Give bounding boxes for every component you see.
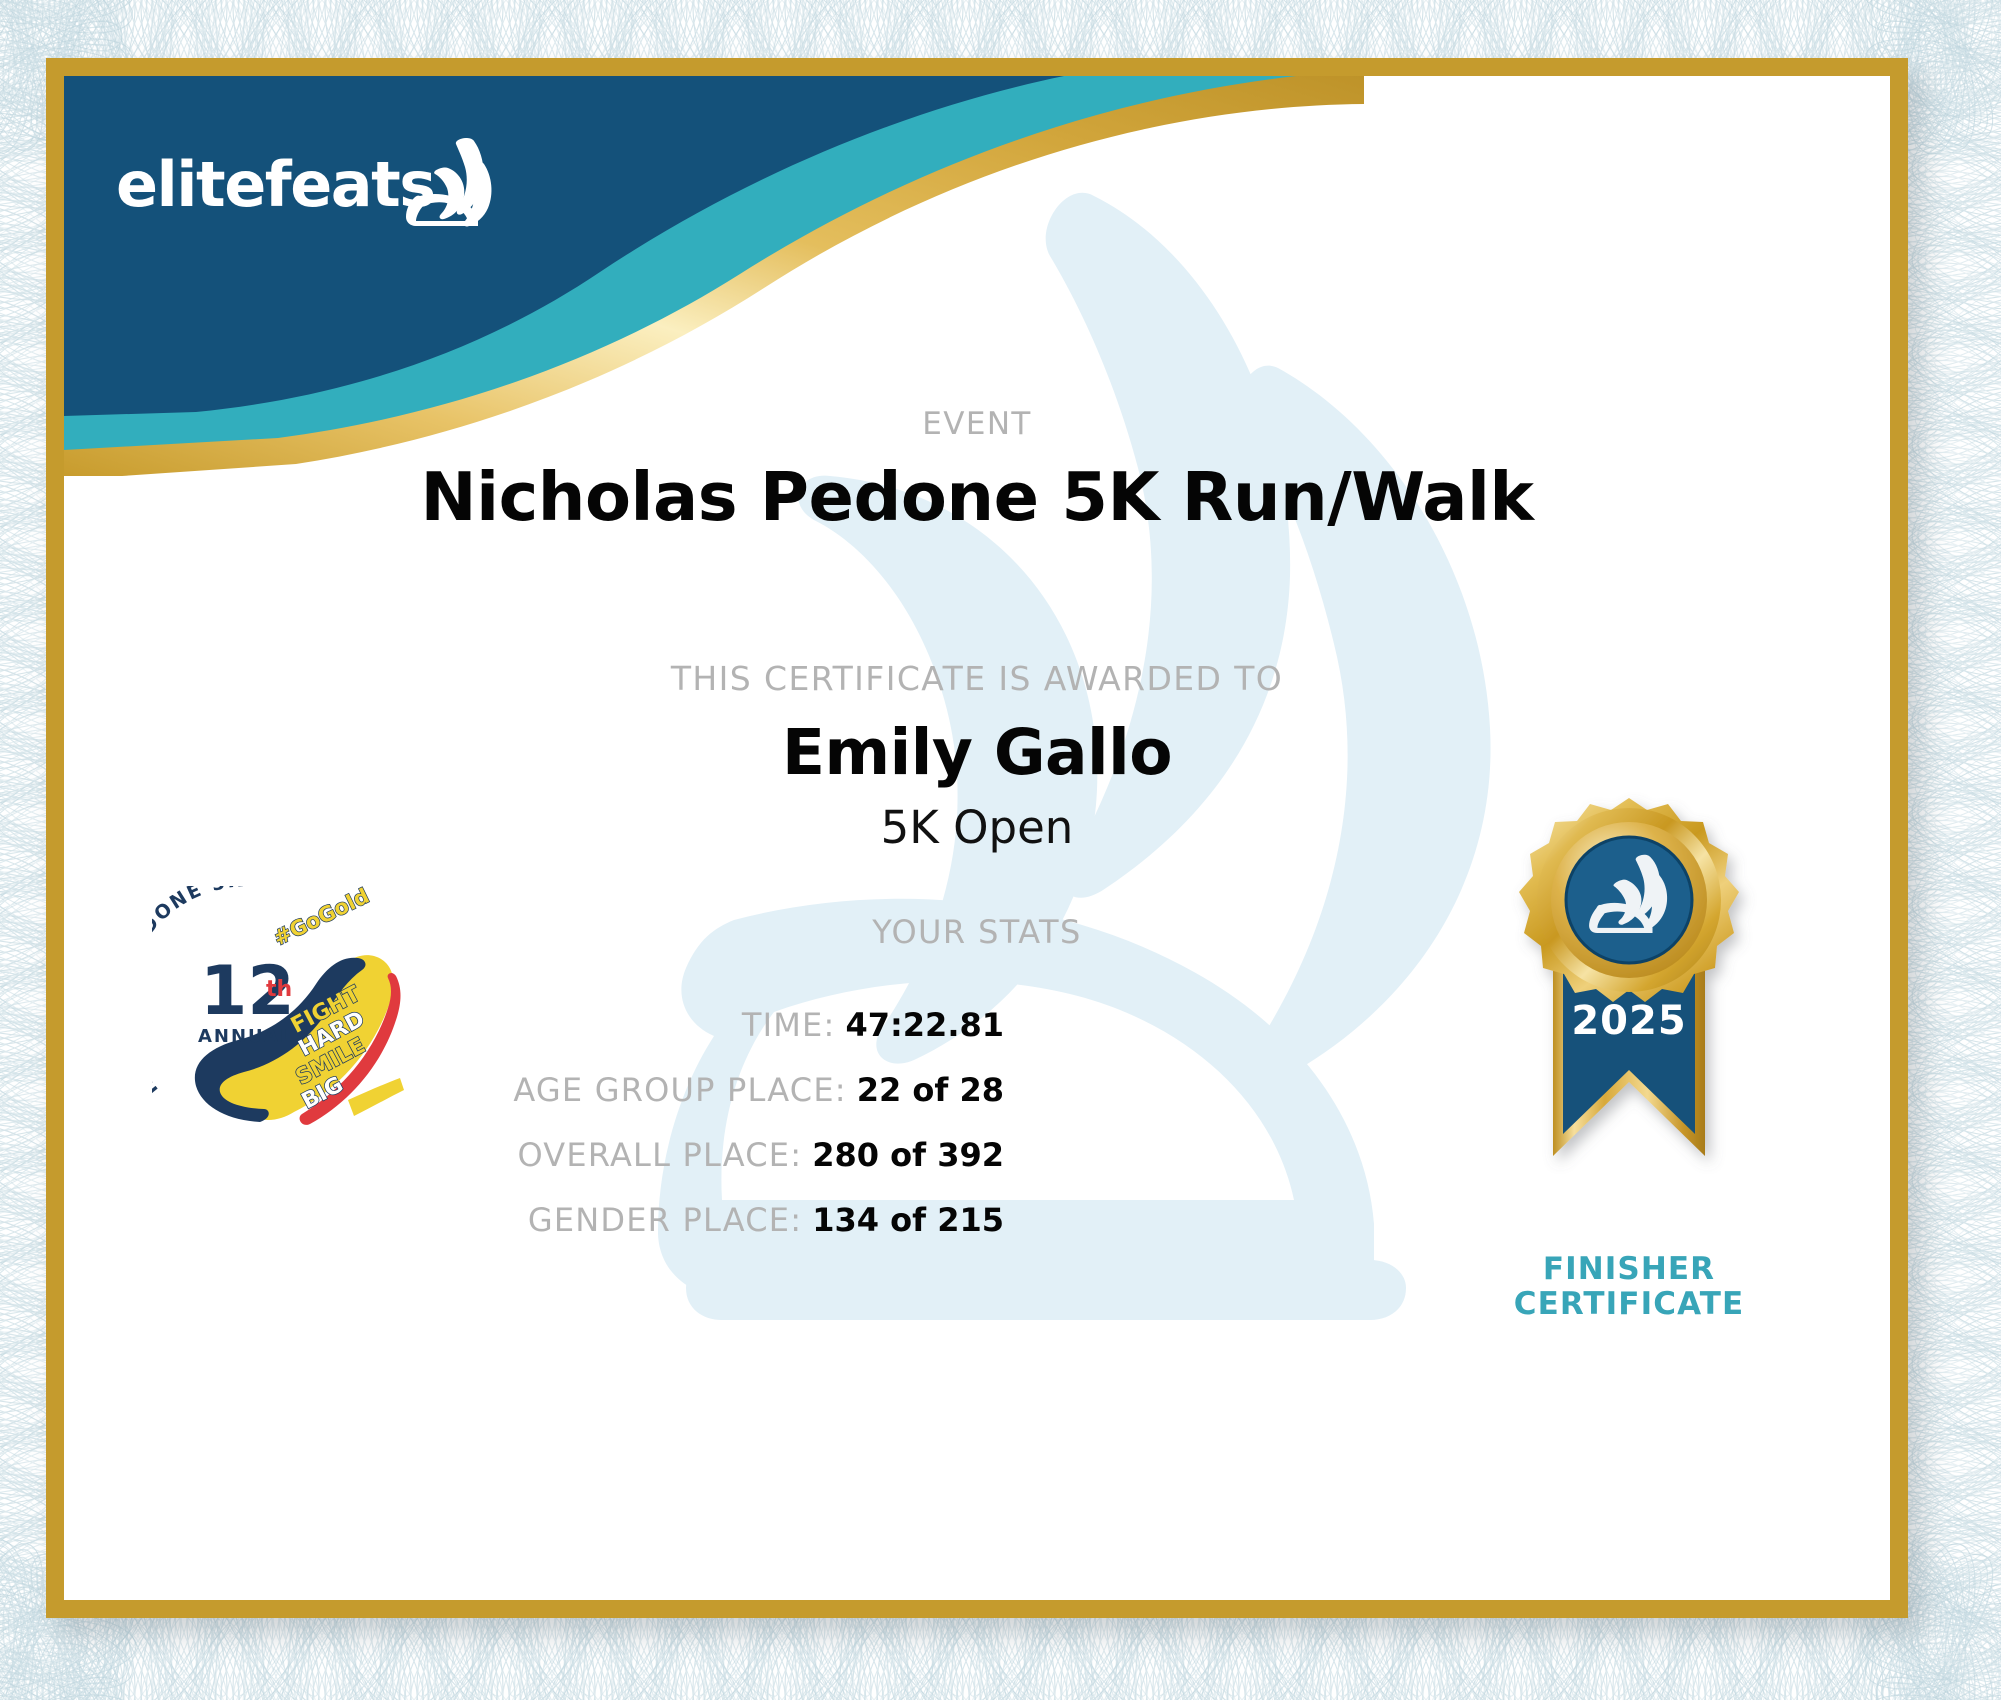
finisher-caption-line1: FINISHER <box>1464 1252 1794 1287</box>
stat-value-age-group-place: 22 of 28 <box>857 1071 1004 1109</box>
brand-wordmark: elitefeats <box>116 148 435 221</box>
certificate-body: elitefeats EVENT Nicholas Pedone 5K Run/… <box>64 76 1890 1600</box>
annual-text: ANNUAL <box>198 1026 294 1047</box>
stat-row-gender-place: GENDER PLACE: 134 of 215 <box>404 1201 1004 1239</box>
gogold-hashtag: #GoGold <box>270 886 373 950</box>
finisher-certificate-caption: FINISHER CERTIFICATE <box>1464 1252 1794 1321</box>
finisher-medal-icon: 2025 <box>1479 786 1779 1246</box>
stats-table: TIME: 47:22.81 AGE GROUP PLACE: 22 of 28… <box>404 1006 1004 1266</box>
stat-value-overall-place: 280 of 392 <box>812 1136 1004 1174</box>
edition-suffix: th <box>266 977 292 1002</box>
certificate-page: elitefeats EVENT Nicholas Pedone 5K Run/… <box>0 0 2001 1700</box>
finisher-caption-line2: CERTIFICATE <box>1464 1287 1794 1322</box>
event-label: EVENT <box>64 406 1890 442</box>
event-title: Nicholas Pedone 5K Run/Walk <box>64 458 1890 536</box>
stat-value-gender-place: 134 of 215 <box>812 1201 1004 1239</box>
stat-label-age-group-place: AGE GROUP PLACE: <box>513 1071 846 1109</box>
stat-label-gender-place: GENDER PLACE: <box>528 1201 802 1239</box>
recipient-name: Emily Gallo <box>64 716 1890 789</box>
stat-row-time: TIME: 47:22.81 <box>404 1006 1004 1044</box>
stat-row-age-group-place: AGE GROUP PLACE: 22 of 28 <box>404 1071 1004 1109</box>
stat-label-time: TIME: <box>742 1006 836 1044</box>
stat-value-time: 47:22.81 <box>845 1006 1004 1044</box>
elitefeats-logo: elitefeats <box>116 138 496 248</box>
awarded-to-label: THIS CERTIFICATE IS AWARDED TO <box>64 659 1890 698</box>
certificate-card: elitefeats EVENT Nicholas Pedone 5K Run/… <box>46 58 1908 1618</box>
winged-foot-icon <box>404 138 500 230</box>
finisher-medal-block: 2025 FINISHER CERTIFICATE <box>1464 786 1794 1321</box>
stat-row-overall-place: OVERALL PLACE: 280 of 392 <box>404 1136 1004 1174</box>
stat-label-overall-place: OVERALL PLACE: <box>517 1136 802 1174</box>
race-event-logo: 12 th ANNUAL NICHOLAS PEDONE 5K #GoGold … <box>152 886 412 1146</box>
medal-year: 2025 <box>1571 998 1686 1044</box>
